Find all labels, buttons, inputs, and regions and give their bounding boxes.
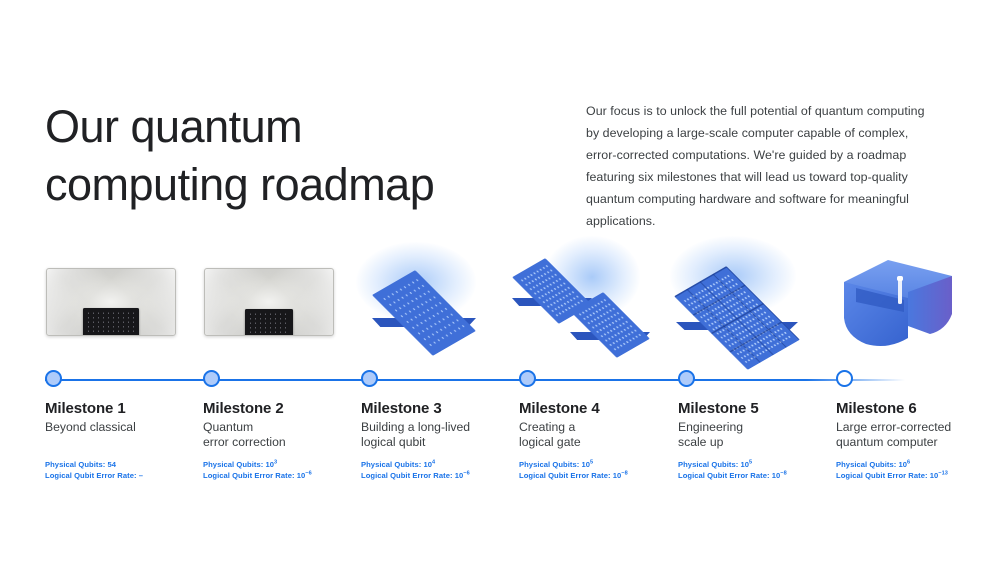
milestone-title: Milestone 6 [836, 400, 996, 417]
physical-qubits-label: Physical Qubits: [203, 460, 263, 469]
physical-qubits-label: Physical Qubits: [678, 460, 738, 469]
physical-qubits-value: 10 [265, 460, 274, 469]
milestone-artwork-1 [38, 246, 190, 356]
physical-qubits-value: 10 [423, 460, 432, 469]
timeline-node-4[interactable] [519, 370, 536, 387]
error-rate-row: Logical Qubit Error Rate: 10−6 [203, 471, 373, 482]
error-rate-value: 10 [613, 471, 622, 480]
milestone-label-6[interactable]: Milestone 6 Large error-corrected quantu… [836, 400, 996, 450]
error-rate-label: Logical Qubit Error Rate: [45, 471, 137, 480]
milestone-specs-3: Physical Qubits: 104 Logical Qubit Error… [361, 460, 531, 481]
error-rate-exponent: −13 [938, 470, 948, 476]
chip-package-icon [46, 268, 176, 336]
error-rate-row: Logical Qubit Error Rate: – [45, 471, 215, 482]
physical-qubits-exponent: 3 [274, 459, 277, 465]
physical-qubits-label: Physical Qubits: [836, 460, 896, 469]
milestone-specs-6: Physical Qubits: 106 Logical Qubit Error… [836, 460, 1000, 481]
physical-qubits-row: Physical Qubits: 106 [836, 460, 1000, 471]
timeline-node-3[interactable] [361, 370, 378, 387]
error-rate-value: – [139, 471, 143, 480]
physical-qubits-value: 10 [581, 460, 590, 469]
milestone-artwork-2 [196, 246, 348, 356]
milestone-artwork-5 [664, 246, 816, 356]
milestone-subtitle: Building a long-lived logical qubit [361, 420, 521, 450]
physical-qubits-exponent: 6 [907, 459, 910, 465]
milestone-subtitle: Large error-corrected quantum computer [836, 420, 996, 450]
physical-qubits-label: Physical Qubits: [45, 460, 105, 469]
roadmap-page: Our quantum computing roadmap Our focus … [0, 0, 1000, 562]
timeline-node-1[interactable] [45, 370, 62, 387]
chip-die-icon [245, 309, 293, 336]
page-title: Our quantum computing roadmap [45, 98, 565, 214]
physical-qubits-row: Physical Qubits: 105 [678, 460, 848, 471]
physical-qubits-exponent: 4 [432, 459, 435, 465]
error-rate-row: Logical Qubit Error Rate: 10−13 [836, 471, 1000, 482]
milestone-artwork-4 [508, 246, 660, 356]
chip-die-icon [83, 308, 139, 336]
milestone-subtitle: Beyond classical [45, 420, 205, 435]
milestone-specs-5: Physical Qubits: 105 Logical Qubit Error… [678, 460, 848, 481]
error-rate-value: 10 [772, 471, 781, 480]
milestone-title: Milestone 1 [45, 400, 205, 417]
physical-qubits-value: 10 [740, 460, 749, 469]
physical-qubits-exponent: 5 [749, 459, 752, 465]
roadmap-timeline [45, 370, 955, 392]
error-rate-exponent: −6 [305, 470, 311, 476]
milestone-title: Milestone 5 [678, 400, 838, 417]
error-rate-exponent: −6 [463, 470, 469, 476]
milestone-label-5[interactable]: Milestone 5 Engineering scale up [678, 400, 838, 450]
milestone-title: Milestone 3 [361, 400, 521, 417]
quantum-computer-enclosure-icon [826, 252, 966, 361]
error-rate-value: 10 [297, 471, 306, 480]
error-rate-label: Logical Qubit Error Rate: [519, 471, 611, 480]
physical-qubits-value: 54 [107, 460, 116, 469]
chip-package-icon [204, 268, 334, 336]
physical-qubits-value: 10 [898, 460, 907, 469]
error-rate-label: Logical Qubit Error Rate: [836, 471, 928, 480]
milestone-title: Milestone 2 [203, 400, 363, 417]
physical-qubits-row: Physical Qubits: 104 [361, 460, 531, 471]
milestone-label-2[interactable]: Milestone 2 Quantum error correction [203, 400, 363, 450]
error-rate-exponent: −8 [621, 470, 627, 476]
error-rate-value: 10 [455, 471, 464, 480]
physical-qubits-row: Physical Qubits: 54 [45, 460, 215, 471]
physical-qubits-label: Physical Qubits: [519, 460, 579, 469]
milestone-specs-2: Physical Qubits: 103 Logical Qubit Error… [203, 460, 373, 481]
milestone-label-4[interactable]: Milestone 4 Creating a logical gate [519, 400, 679, 450]
error-rate-label: Logical Qubit Error Rate: [361, 471, 453, 480]
milestone-artwork-3 [352, 246, 504, 356]
timeline-node-2[interactable] [203, 370, 220, 387]
error-rate-exponent: −8 [780, 470, 786, 476]
error-rate-value: 10 [930, 471, 939, 480]
milestone-title: Milestone 4 [519, 400, 679, 417]
milestone-label-3[interactable]: Milestone 3 Building a long-lived logica… [361, 400, 521, 450]
timeline-rail [45, 379, 905, 381]
physical-qubits-label: Physical Qubits: [361, 460, 421, 469]
milestone-specs-1: Physical Qubits: 54 Logical Qubit Error … [45, 460, 215, 481]
physical-qubits-exponent: 5 [590, 459, 593, 465]
physical-qubits-row: Physical Qubits: 103 [203, 460, 373, 471]
intro-paragraph: Our focus is to unlock the full potentia… [586, 100, 938, 232]
error-rate-row: Logical Qubit Error Rate: 10−8 [519, 471, 689, 482]
milestone-specs-4: Physical Qubits: 105 Logical Qubit Error… [519, 460, 689, 481]
milestone-label-1[interactable]: Milestone 1 Beyond classical [45, 400, 205, 435]
milestone-subtitle: Creating a logical gate [519, 420, 679, 450]
physical-qubits-row: Physical Qubits: 105 [519, 460, 689, 471]
milestone-subtitle: Quantum error correction [203, 420, 363, 450]
timeline-node-5[interactable] [678, 370, 695, 387]
error-rate-row: Logical Qubit Error Rate: 10−6 [361, 471, 531, 482]
timeline-node-6[interactable] [836, 370, 853, 387]
error-rate-row: Logical Qubit Error Rate: 10−8 [678, 471, 848, 482]
milestone-subtitle: Engineering scale up [678, 420, 838, 450]
error-rate-label: Logical Qubit Error Rate: [678, 471, 770, 480]
milestone-artwork-6 [820, 246, 972, 356]
error-rate-label: Logical Qubit Error Rate: [203, 471, 295, 480]
